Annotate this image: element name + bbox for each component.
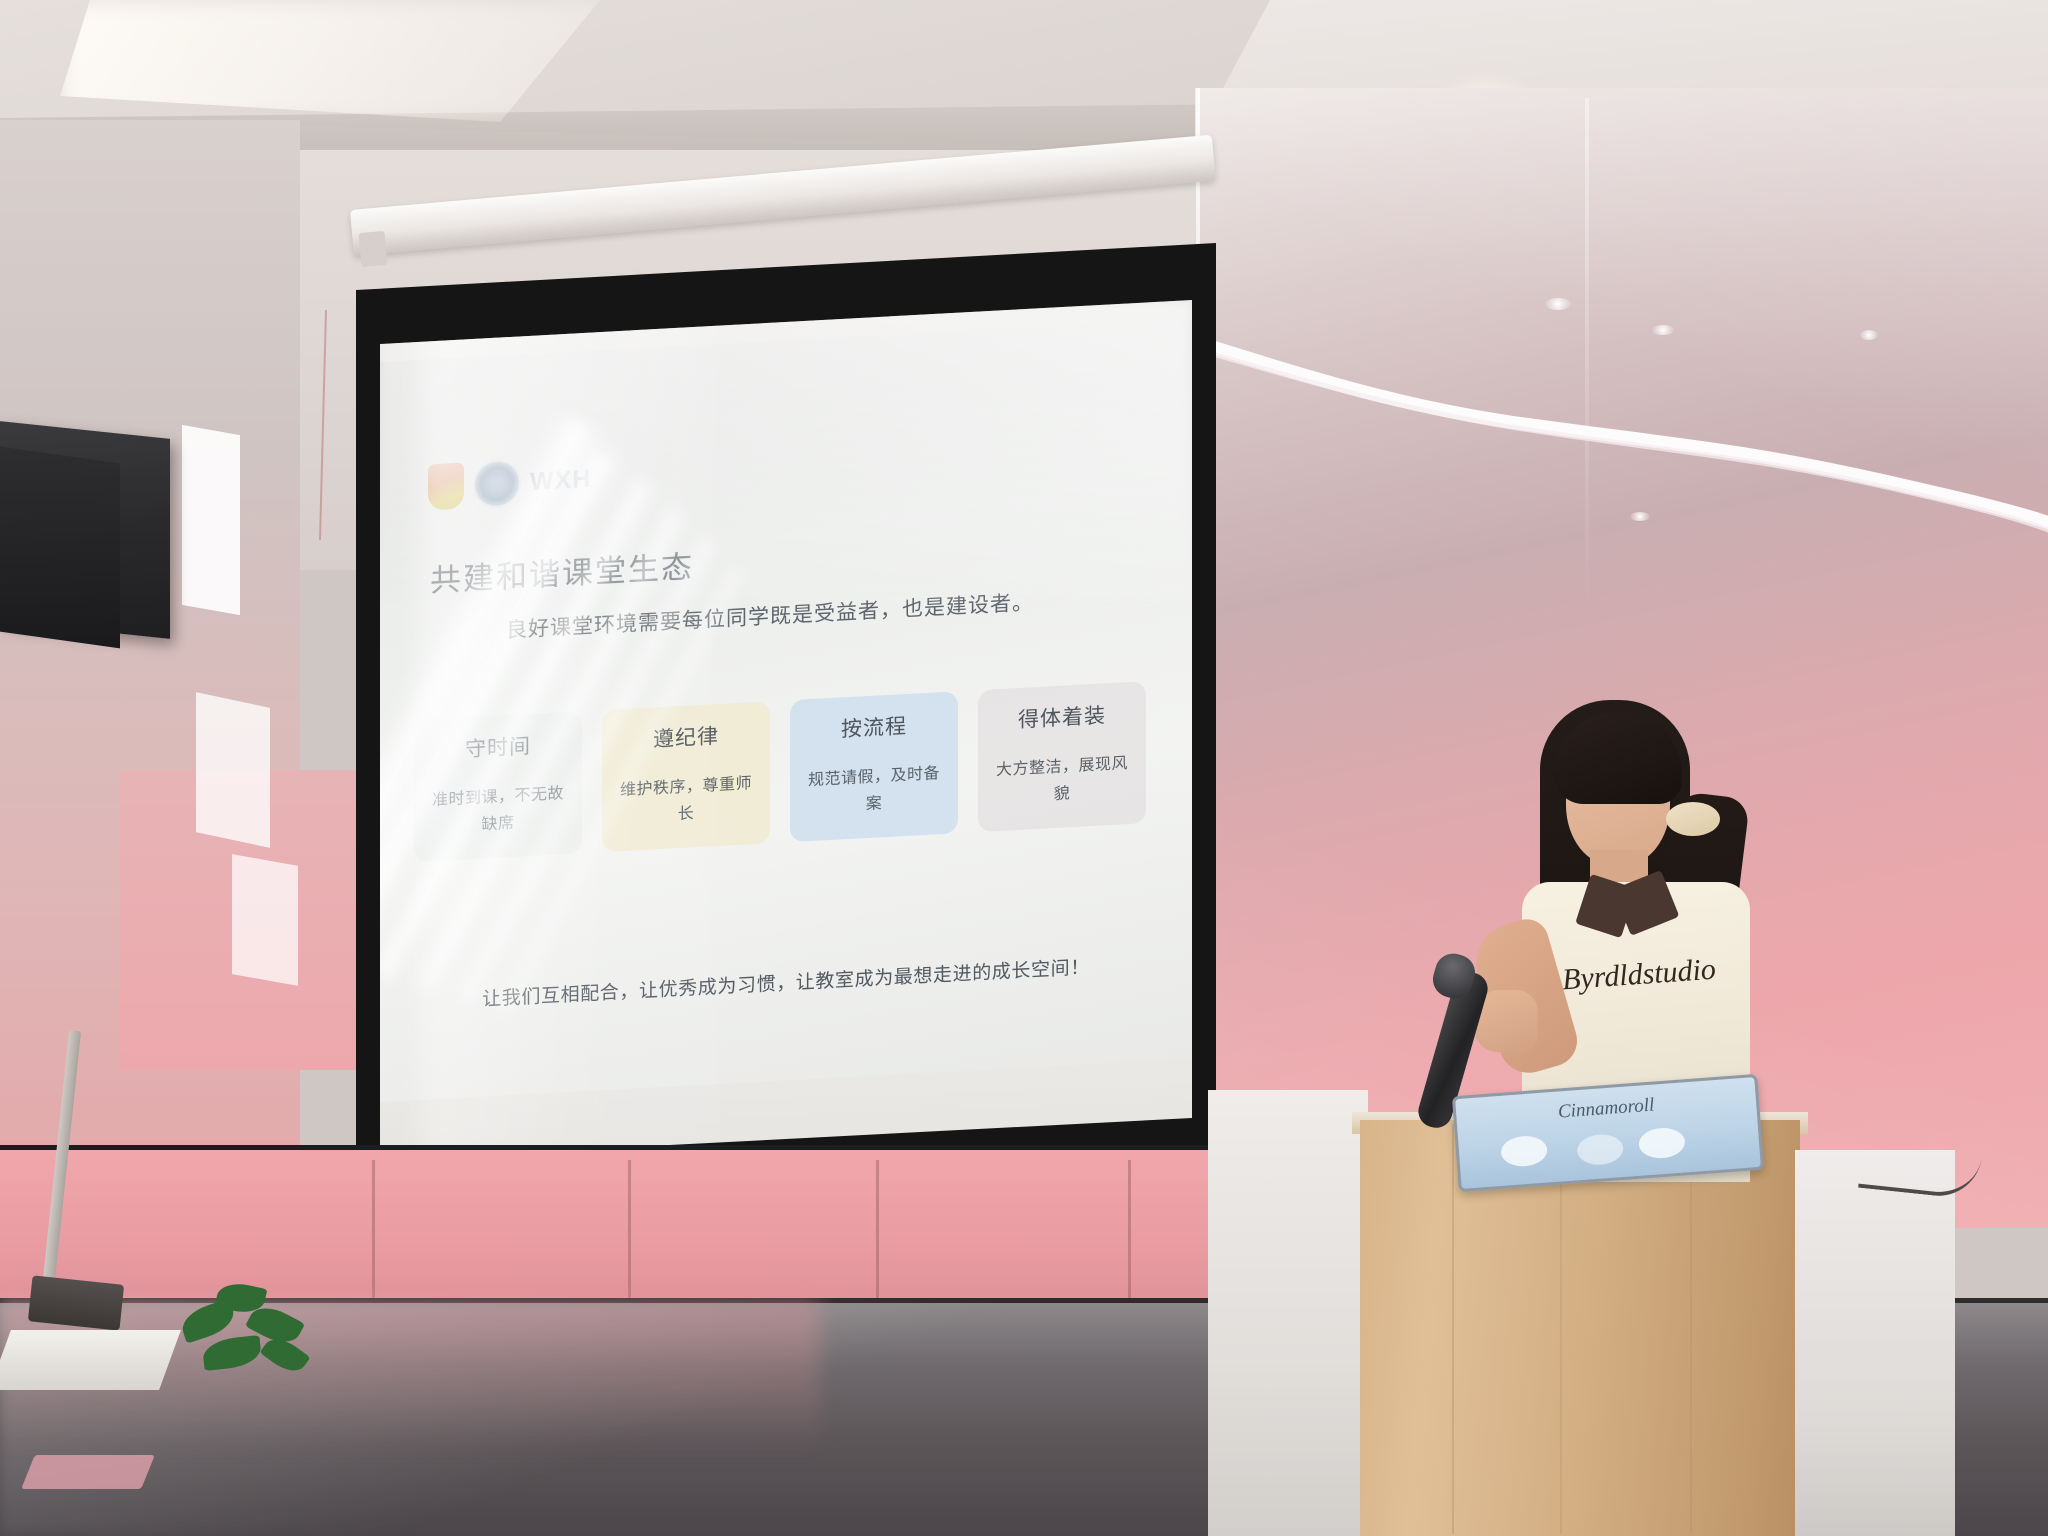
card-discipline-title: 遵纪律 — [612, 718, 760, 756]
slide-footer-text: 让我们互相配合，让优秀成为习惯，让教室成为最想走进的成长空间！ — [416, 949, 1156, 1015]
card-discipline: 遵纪律 维护秩序，尊重师长 — [602, 701, 770, 852]
broom-head[interactable] — [28, 1275, 124, 1330]
plant-leaf-4 — [202, 1335, 263, 1371]
glass-highlight-2 — [1652, 325, 1674, 335]
card-procedure-body: 规范请假，及时备案 — [800, 760, 948, 822]
wall-paper-patch-2 — [196, 692, 270, 848]
wall-paper-patch-1 — [182, 425, 240, 615]
slide-title: 共建和谐课堂生态 — [430, 541, 694, 600]
slide-logo-wordmark: WXH — [530, 464, 591, 496]
card-punctuality: 守时间 准时到课，不无故缺席 — [414, 711, 582, 862]
school-crest-shield-icon — [428, 463, 464, 511]
projection-screen-surface: WXH 共建和谐课堂生态 良好课堂环境需要每位同学既是受益者，也是建设者。 守时… — [380, 300, 1192, 1160]
podium-right-wing — [1795, 1150, 1955, 1536]
projected-slide: WXH 共建和谐课堂生态 良好课堂环境需要每位同学既是受益者，也是建设者。 守时… — [380, 300, 1192, 1160]
wall-paper-patch-3 — [232, 854, 298, 986]
podium-left-side — [1208, 1090, 1368, 1536]
screen-roller-bracket — [359, 231, 388, 267]
lecture-hall-scene: WXH 共建和谐课堂生态 良好课堂环境需要每位同学既是受益者，也是建设者。 守时… — [0, 0, 2048, 1536]
school-seal-icon — [473, 458, 521, 509]
card-punctuality-body: 准时到课，不无故缺席 — [424, 780, 572, 842]
podium-wood-grain-1 — [1452, 1124, 1454, 1534]
card-dresscode-body: 大方整洁，展现风貌 — [988, 750, 1136, 812]
laptop-lid-wordmark: Cinnamoroll — [1456, 1087, 1757, 1131]
floor-paper-sheet — [0, 1330, 181, 1390]
card-dresscode: 得体着装 大方整洁，展现风貌 — [978, 681, 1146, 832]
cinnamoroll-face-icon-2 — [1576, 1133, 1624, 1166]
slide-canvas: WXH 共建和谐课堂生态 良好课堂环境需要每位同学既是受益者，也是建设者。 守时… — [380, 319, 1192, 1102]
slide-logo-group: WXH — [428, 455, 591, 512]
glass-highlight-1 — [1545, 298, 1571, 310]
glass-highlight-3 — [1860, 330, 1878, 340]
card-procedure: 按流程 规范请假，及时备案 — [790, 691, 958, 842]
glass-seam-mid — [1585, 98, 1589, 618]
card-procedure-title: 按流程 — [800, 708, 948, 746]
floor-pink-mat — [21, 1455, 155, 1489]
potted-green-plant — [175, 1280, 325, 1390]
cinnamoroll-face-icon-1 — [1500, 1135, 1548, 1168]
presenter-hand — [1474, 990, 1538, 1052]
card-dresscode-title: 得体着装 — [988, 698, 1136, 736]
slide-card-row: 守时间 准时到课，不无故缺席 遵纪律 维护秩序，尊重师长 按流程 规范请假，及时… — [414, 680, 1174, 863]
cinnamoroll-face-icon-3 — [1638, 1126, 1686, 1159]
slide-subtitle: 良好课堂环境需要每位同学既是受益者，也是建设者。 — [506, 586, 1034, 644]
glass-highlight-4 — [1630, 512, 1650, 521]
card-punctuality-title: 守时间 — [424, 728, 572, 766]
wall-mounted-loudspeaker-secondary — [0, 447, 120, 649]
hair-scrunchie — [1666, 802, 1720, 836]
card-discipline-body: 维护秩序，尊重师长 — [612, 770, 760, 832]
